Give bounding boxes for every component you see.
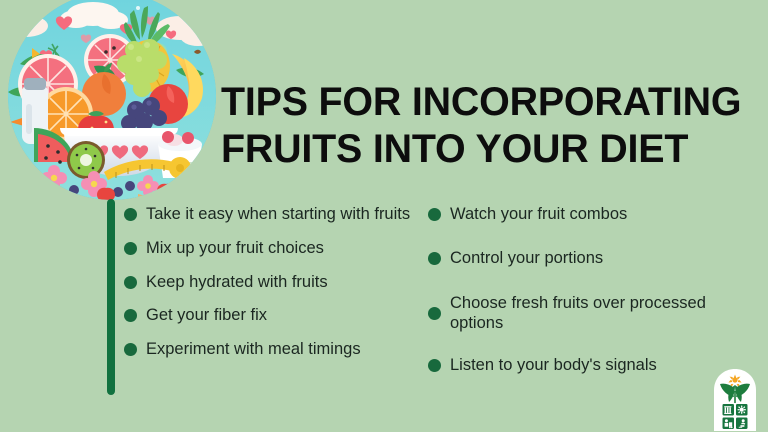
page-title-line-2: Fruits Into Your Diet (221, 126, 743, 173)
bullet-dot-icon (124, 208, 137, 221)
list-item-label: Mix up your fruit choices (146, 238, 324, 258)
list-item-label: Take it easy when starting with fruits (146, 204, 410, 224)
list-item: Get your fiber fix (124, 305, 424, 325)
sun-icon (738, 406, 746, 414)
vertical-accent-bar (107, 199, 115, 395)
bullet-dot-icon (124, 309, 137, 322)
bullet-dot-icon (124, 343, 137, 356)
poster-canvas: Tips for Incorporating Fruits Into Your … (0, 0, 768, 432)
list-item-label: Choose fresh fruits over processed optio… (450, 293, 740, 334)
bullet-dot-icon (428, 252, 441, 265)
list-item-label: Keep hydrated with fruits (146, 272, 328, 292)
list-item: Experiment with meal timings (124, 339, 424, 359)
list-item: Choose fresh fruits over processed optio… (428, 293, 740, 334)
list-item: Control your portions (428, 248, 740, 268)
list-item: Keep hydrated with fruits (124, 272, 424, 292)
list-item-label: Watch your fruit combos (450, 204, 627, 224)
list-item-label: Experiment with meal timings (146, 339, 361, 359)
fruit-bowl-illustration (8, 0, 216, 200)
list-item: Take it easy when starting with fruits (124, 204, 424, 224)
list-item: Watch your fruit combos (428, 204, 740, 224)
list-item-label: Listen to your body's signals (450, 355, 657, 375)
tips-list-left: Take it easy when starting with fruits M… (124, 204, 424, 359)
bullet-dot-icon (428, 307, 441, 320)
list-item: Listen to your body's signals (428, 355, 740, 375)
page-title: Tips for Incorporating Fruits Into Your … (221, 79, 743, 173)
page-title-line-1: Tips for Incorporating (221, 79, 743, 126)
bullet-dot-icon (428, 208, 441, 221)
bullet-dot-icon (124, 276, 137, 289)
list-item: Mix up your fruit choices (124, 238, 424, 258)
bullet-dot-icon (124, 242, 137, 255)
plant-and-icons-logo (712, 367, 758, 432)
bullet-dot-icon (428, 359, 441, 372)
list-item-label: Get your fiber fix (146, 305, 267, 325)
tips-list-right: Watch your fruit combos Control your por… (428, 204, 740, 375)
list-item-label: Control your portions (450, 248, 603, 268)
